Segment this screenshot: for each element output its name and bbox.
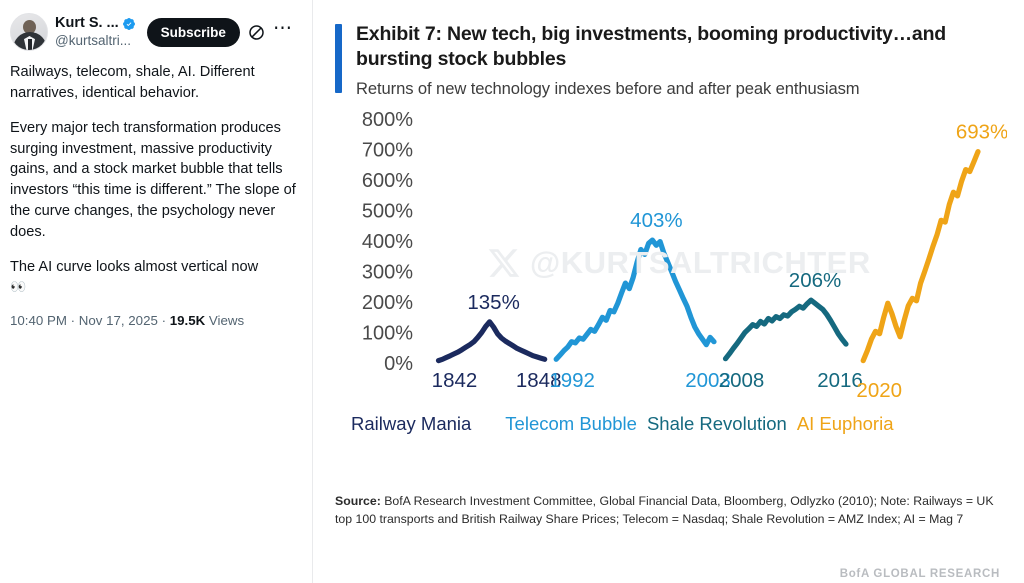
tweet-header: Kurt S. ... @kurtsaltri... Subscribe ⋯ [10,9,298,55]
source-note: Source: BofA Research Investment Committ… [335,492,1006,528]
legend-item-railway-mania: Railway Mania [351,413,471,435]
accent-bar [335,24,342,93]
chart-title-row: Exhibit 7: New tech, big investments, bo… [335,22,1006,99]
y-axis-tick-label: 300% [362,262,413,284]
start-year-label-1: 1992 [549,369,595,392]
peak-label-shale-revolution: 206% [789,269,841,292]
series-line-railway-mania [439,322,545,361]
chart-title-block: Exhibit 7: New tech, big investments, bo… [356,22,976,99]
series-line-ai-euphoria [863,152,978,361]
start-year-label-0: 1842 [432,369,478,392]
legend-item-telecom-bubble: Telecom Bubble [505,413,637,435]
views-label: Views [209,313,244,328]
tweet-metadata: 10:40 PM · Nov 17, 2025 · 19.5K Views [10,313,298,328]
chart-title: Exhibit 7: New tech, big investments, bo… [356,22,976,73]
y-axis-tick-label: 600% [362,170,413,192]
tweet-paragraph-3: The AI curve looks almost vertical now 👀 [10,257,298,298]
tweet-paragraph-2: Every major tech transformation produces… [10,118,298,242]
display-name-row[interactable]: Kurt S. ... [55,15,136,32]
eyes-emoji-icon: 👀 [10,279,26,294]
y-axis-tick-label: 0% [384,353,413,375]
avatar[interactable] [10,13,48,51]
chart-svg: 800%700%600%500%400%300%200%100%0%135%18… [335,111,1007,411]
peak-label-railway-mania: 135% [467,291,519,314]
plot-area: @KURTSALTRICHTER 800%700%600%500%400%300… [335,111,1006,411]
tweet-time: 10:40 PM [10,313,67,328]
legend-item-shale-revolution: Shale Revolution [647,413,787,435]
verified-badge-icon [122,17,136,31]
views-count: 19.5K [170,313,205,328]
y-axis-tick-label: 400% [362,231,413,253]
y-axis-tick-label: 500% [362,201,413,223]
y-axis-tick-label: 200% [362,292,413,314]
y-axis-tick-label: 700% [362,140,413,162]
screenshot-root: Kurt S. ... @kurtsaltri... Subscribe ⋯ R… [0,0,1024,583]
series-line-shale-revolution [726,300,847,359]
start-year-label-3: 2020 [856,379,902,402]
y-axis-tick-label: 800% [362,111,413,131]
chart-card: Exhibit 7: New tech, big investments, bo… [312,0,1024,583]
series-line-telecom-bubble [556,240,714,359]
brand-footer: BofA GLOBAL RESEARCH [840,568,1000,580]
display-name: Kurt S. ... [55,15,119,32]
avatar-tie-shape [28,39,32,50]
peak-label-ai-euphoria: 693% [956,121,1007,144]
tweet-paragraph-3-text: The AI curve looks almost vertical now [10,259,258,275]
tweet-panel: Kurt S. ... @kurtsaltri... Subscribe ⋯ R… [0,0,312,583]
tweet-date: Nov 17, 2025 [79,313,158,328]
source-label: Source: [335,494,381,508]
source-text: BofA Research Investment Committee, Glob… [335,494,994,526]
account-name-block: Kurt S. ... @kurtsaltri... [55,15,136,48]
meta-sep-2: · [162,313,166,328]
tweet-paragraph-1: Railways, telecom, shale, AI. Different … [10,62,298,103]
start-year-label-2: 2008 [719,369,765,392]
tweet-body: Railways, telecom, shale, AI. Different … [10,62,298,328]
more-options-icon[interactable]: ⋯ [273,24,293,40]
peak-label-telecom-bubble: 403% [630,209,682,232]
chart-subtitle: Returns of new technology indexes before… [356,78,976,100]
account-handle[interactable]: @kurtsaltri... [55,33,136,49]
subscribe-button[interactable]: Subscribe [147,18,240,47]
slashed-circle-icon[interactable] [247,23,266,42]
y-axis-tick-label: 100% [362,323,413,345]
chart-legend: Railway ManiaTelecom BubbleShale Revolut… [335,413,1006,435]
meta-sep-1: · [71,313,75,328]
legend-item-ai-euphoria: AI Euphoria [797,413,894,435]
